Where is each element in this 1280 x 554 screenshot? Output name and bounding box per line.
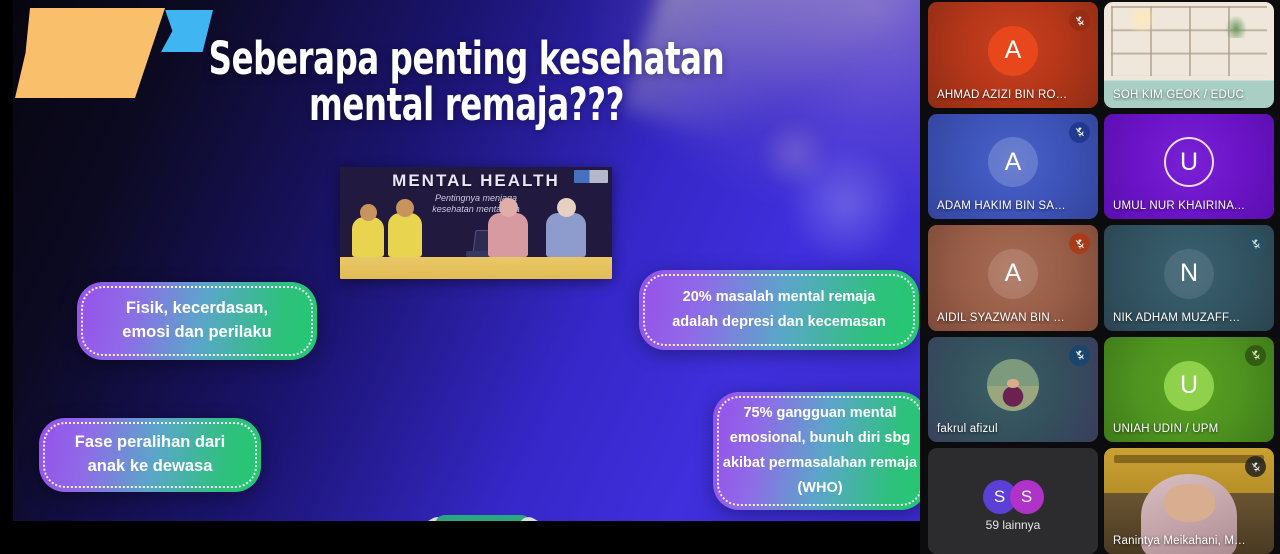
participant-tile[interactable]: A ADAM HAKIM BIN SAMS... — [928, 114, 1098, 220]
fact-bubble-depression-stat: 20% masalah mental remaja adalah depresi… — [639, 270, 919, 350]
participant-tile[interactable]: U UNIAH UDIN / UPM — [1104, 337, 1274, 443]
participant-name: fakrul afizul — [937, 423, 1070, 435]
participant-name: UNIAH UDIN / UPM — [1113, 423, 1246, 435]
illustration-person-2 — [388, 199, 422, 257]
participant-tile[interactable]: A AHMAD AZIZI BIN ROZAI... — [928, 2, 1098, 108]
overflow-avatars: S S — [983, 480, 1044, 514]
person-head — [557, 198, 576, 217]
participant-name: AIDIL SYAZWAN BIN DIN ... — [937, 312, 1070, 324]
person-torso — [546, 213, 586, 257]
participant-name: NIK ADHAM MUZAFFAR ... — [1113, 312, 1246, 324]
mic-muted-icon — [1245, 345, 1266, 366]
participant-name: ADAM HAKIM BIN SAMS... — [937, 200, 1070, 212]
fact-bubble-physical: Fisik, kecerdasan, emosi dan perilaku — [77, 282, 317, 360]
participant-tile[interactable]: U UMUL NUR KHAIRINA BIN... — [1104, 114, 1274, 220]
presentation-slide[interactable]: Seberapa penting kesehatan mental remaja… — [13, 0, 920, 521]
person-head — [396, 199, 414, 217]
person-face — [1164, 484, 1215, 522]
illustration-floor — [340, 257, 612, 279]
fact-bubble-who-stat: 75% gangguan mental emosional, bunuh dir… — [713, 392, 920, 510]
illustration-person-1 — [352, 205, 384, 257]
avatar: U — [1164, 137, 1214, 187]
lamp-glow — [1126, 8, 1157, 35]
person-head — [360, 204, 377, 221]
participant-name: Ranintya Meikahani, M. P... — [1113, 535, 1246, 547]
more-participants-tile[interactable]: S S 59 lainnya — [928, 448, 1098, 554]
illustration-person-4 — [546, 199, 586, 257]
participant-tile[interactable]: fakrul afizul — [928, 337, 1098, 443]
mic-muted-icon — [1069, 10, 1090, 31]
mic-muted-icon — [1069, 345, 1090, 366]
shared-screen-stage[interactable]: Seberapa penting kesehatan mental remaja… — [0, 0, 920, 554]
meeting-window: Seberapa penting kesehatan mental remaja… — [0, 0, 1280, 554]
participant-grid: A AHMAD AZIZI BIN ROZAI... SOH KIM GEOK … — [920, 0, 1280, 554]
avatar: A — [988, 249, 1038, 299]
more-participants-label: 59 lainnya — [928, 518, 1098, 532]
avatar: S — [1010, 480, 1044, 514]
mic-muted-icon — [1069, 233, 1090, 254]
illustration-heading: MENTAL HEALTH — [340, 171, 612, 191]
lens-flare-orb-small-icon — [760, 120, 830, 190]
fact-bubble-transition: Fase peralihan dari anak ke dewasa — [39, 418, 261, 492]
participant-name: UMUL NUR KHAIRINA BIN... — [1113, 200, 1246, 212]
person-torso — [352, 217, 384, 257]
participant-tile[interactable]: SOH KIM GEOK / EDUC — [1104, 2, 1274, 108]
illustration-person-3 — [488, 199, 528, 257]
person-head — [499, 198, 518, 217]
petal-solar-panel[interactable] — [435, 515, 531, 521]
mental-health-illustration: MENTAL HEALTH Pentingnya menjaga kesehat… — [340, 167, 612, 279]
person-torso — [388, 213, 422, 257]
slide-title: Seberapa penting kesehatan mental remaja… — [104, 36, 830, 129]
avatar: A — [988, 26, 1038, 76]
avatar: A — [988, 137, 1038, 187]
participant-name: SOH KIM GEOK / EDUC — [1113, 89, 1246, 101]
plant-decor — [1225, 15, 1247, 38]
participant-tile[interactable]: N NIK ADHAM MUZAFFAR ... — [1104, 225, 1274, 331]
participant-tile[interactable]: A AIDIL SYAZWAN BIN DIN ... — [928, 225, 1098, 331]
avatar-photo — [987, 359, 1039, 411]
participant-name: AHMAD AZIZI BIN ROZAI... — [937, 89, 1070, 101]
mic-muted-icon — [1069, 122, 1090, 143]
avatar: U — [1164, 361, 1214, 411]
mic-muted-icon — [1245, 233, 1266, 254]
participant-tile[interactable]: Ranintya Meikahani, M. P... — [1104, 448, 1274, 554]
avatar: N — [1164, 249, 1214, 299]
person-torso — [488, 213, 528, 257]
lens-flare-orb-icon — [785, 145, 905, 265]
